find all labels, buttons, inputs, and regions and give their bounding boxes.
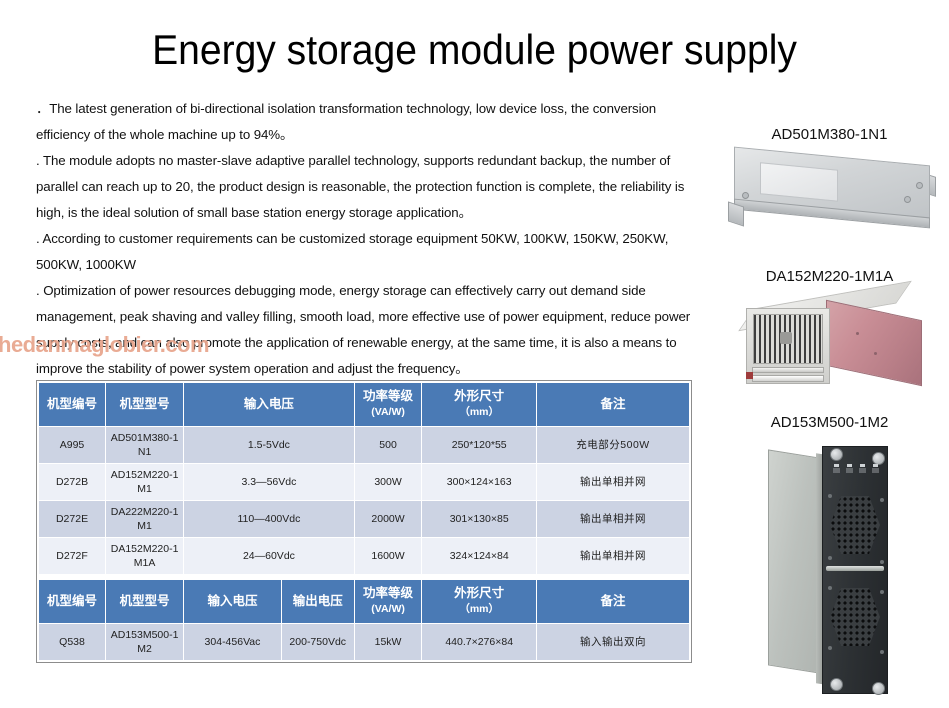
chassis-screw <box>742 192 749 199</box>
product-caption-3: AD153M500-1M2 <box>710 414 949 431</box>
panel-screw <box>880 650 884 654</box>
cell-remark: 输出单相并网 <box>536 464 689 501</box>
cell-model-no: D272B <box>39 464 106 501</box>
th-model-type: 机型型号 <box>106 383 184 427</box>
table-row: D272F DA152M220-1M1A 24—60Vdc 1600W 324×… <box>39 538 690 575</box>
th-dimensions-main: 外形尺寸 <box>454 389 504 403</box>
table-row: D272E DA222M220-1M1 110—400Vdc 2000W 301… <box>39 501 690 538</box>
cell-model-no: D272E <box>39 501 106 538</box>
panel-screw <box>880 560 884 564</box>
product-caption-2: DA152M220-1M1A <box>710 268 949 285</box>
cell-dimensions: 250*120*55 <box>422 427 537 464</box>
cell-remark: 输出单相并网 <box>536 501 689 538</box>
cell-power: 2000W <box>354 501 422 538</box>
led-label <box>872 468 879 473</box>
page-title: Energy storage module power supply <box>33 26 916 74</box>
table-header-primary: 机型编号 机型型号 输入电压 功率等级 (VA/W) 外形尺寸 （mm） 备注 <box>39 383 690 427</box>
cell-model-type: DA222M220-1M1 <box>106 501 184 538</box>
cell-dimensions: 300×124×163 <box>422 464 537 501</box>
thumb-screw-bottom-right <box>872 682 885 695</box>
paragraph-3: . According to customer requirements can… <box>36 226 708 278</box>
module-label-slot <box>752 367 824 373</box>
module-side-panel <box>826 300 922 386</box>
status-led <box>873 464 878 467</box>
status-led <box>847 464 852 467</box>
product-photo-flat-chassis <box>728 152 940 238</box>
description-block: ．The latest generation of bi-directional… <box>36 96 708 382</box>
th-power-unit: (VA/W) <box>371 406 405 418</box>
chassis-ear-left <box>728 201 744 226</box>
cell-model-type: AD152M220-1M1 <box>106 464 184 501</box>
product-caption-1: AD501M380-1N1 <box>710 126 949 143</box>
cell-model-no: Q538 <box>39 624 106 661</box>
paragraph-4: . Optimization of power resources debugg… <box>36 278 708 382</box>
th2-remark: 备注 <box>536 580 689 624</box>
cell-dimensions: 440.7×276×84 <box>422 624 537 661</box>
th2-dimensions: 外形尺寸 （mm） <box>422 580 537 624</box>
product-photo-tall-module <box>768 440 948 698</box>
cell-dimensions: 324×124×84 <box>422 538 537 575</box>
module-latch-handle <box>746 372 753 379</box>
cell-model-no: A995 <box>39 427 106 464</box>
th2-power-unit: (VA/W) <box>371 603 405 615</box>
cell-remark: 输出单相并网 <box>536 538 689 575</box>
panel-screw <box>828 494 832 498</box>
cell-remark: 充电部分500W <box>536 427 689 464</box>
panel-screw <box>828 586 832 590</box>
table-row: A995 AD501M380-1N1 1.5-5Vdc 500 250*120*… <box>39 427 690 464</box>
table-row: Q538 AD153M500-1M2 304-456Vac 200-750Vdc… <box>39 624 690 661</box>
cell-power: 300W <box>354 464 422 501</box>
th-remark: 备注 <box>536 383 689 427</box>
product-photo-rectifier-module <box>728 296 940 396</box>
panel-screw <box>880 590 884 594</box>
th2-power: 功率等级 (VA/W) <box>354 580 422 624</box>
th2-dimensions-unit: （mm） <box>459 603 499 615</box>
module-side-screw <box>874 352 877 355</box>
chassis-screw <box>904 196 911 203</box>
th-dimensions-unit: （mm） <box>459 406 499 418</box>
led-label <box>859 468 866 473</box>
th-dimensions: 外形尺寸 （mm） <box>422 383 537 427</box>
table-header-secondary: 机型编号 机型型号 输入电压 输出电压 功率等级 (VA/W) 外形尺寸 （mm… <box>39 580 690 624</box>
cell-input-voltage: 304-456Vac <box>184 624 282 661</box>
th-model-no: 机型编号 <box>39 383 106 427</box>
th2-output-voltage: 输出电压 <box>281 580 354 624</box>
module-connector-slot <box>752 375 824 382</box>
paragraph-1: ．The latest generation of bi-directional… <box>36 96 708 148</box>
cell-power: 1600W <box>354 538 422 575</box>
th-power: 功率等级 (VA/W) <box>354 383 422 427</box>
cell-power: 15kW <box>354 624 422 661</box>
panel-screw <box>828 556 832 560</box>
cell-model-type: AD501M380-1N1 <box>106 427 184 464</box>
chassis-screw <box>916 182 923 189</box>
th2-power-main: 功率等级 <box>363 586 413 600</box>
cell-output-voltage: 200-750Vdc <box>281 624 354 661</box>
led-label <box>846 468 853 473</box>
cell-input-voltage: 110—400Vdc <box>184 501 355 538</box>
panel-screw <box>828 646 832 650</box>
paragraph-2: . The module adopts no master-slave adap… <box>36 148 708 226</box>
module-pull-handle[interactable] <box>826 566 884 571</box>
cell-input-voltage: 24—60Vdc <box>184 538 355 575</box>
cell-dimensions: 301×130×85 <box>422 501 537 538</box>
led-label <box>833 468 840 473</box>
status-led <box>834 464 839 467</box>
status-led <box>860 464 865 467</box>
table-row: D272B AD152M220-1M1 3.3—56Vdc 300W 300×1… <box>39 464 690 501</box>
th-power-main: 功率等级 <box>363 389 413 403</box>
cell-remark: 输入输出双向 <box>536 624 689 661</box>
th2-input-voltage: 输入电压 <box>184 580 282 624</box>
thumb-screw-top-left <box>830 448 843 461</box>
fan-hub <box>780 332 792 344</box>
cell-model-no: D272F <box>39 538 106 575</box>
cell-input-voltage: 3.3—56Vdc <box>184 464 355 501</box>
th2-dimensions-main: 外形尺寸 <box>454 586 504 600</box>
cell-model-type: DA152M220-1M1A <box>106 538 184 575</box>
specification-table: 机型编号 机型型号 输入电压 功率等级 (VA/W) 外形尺寸 （mm） 备注 … <box>36 380 692 663</box>
th2-model-no: 机型编号 <box>39 580 106 624</box>
module-side-screw <box>856 332 859 335</box>
th2-model-type: 机型型号 <box>106 580 184 624</box>
cell-power: 500 <box>354 427 422 464</box>
th-input-voltage: 输入电压 <box>184 383 355 427</box>
panel-screw <box>880 498 884 502</box>
cell-model-type: AD153M500-1M2 <box>106 624 184 661</box>
cell-input-voltage: 1.5-5Vdc <box>184 427 355 464</box>
thumb-screw-bottom-left <box>830 678 843 691</box>
